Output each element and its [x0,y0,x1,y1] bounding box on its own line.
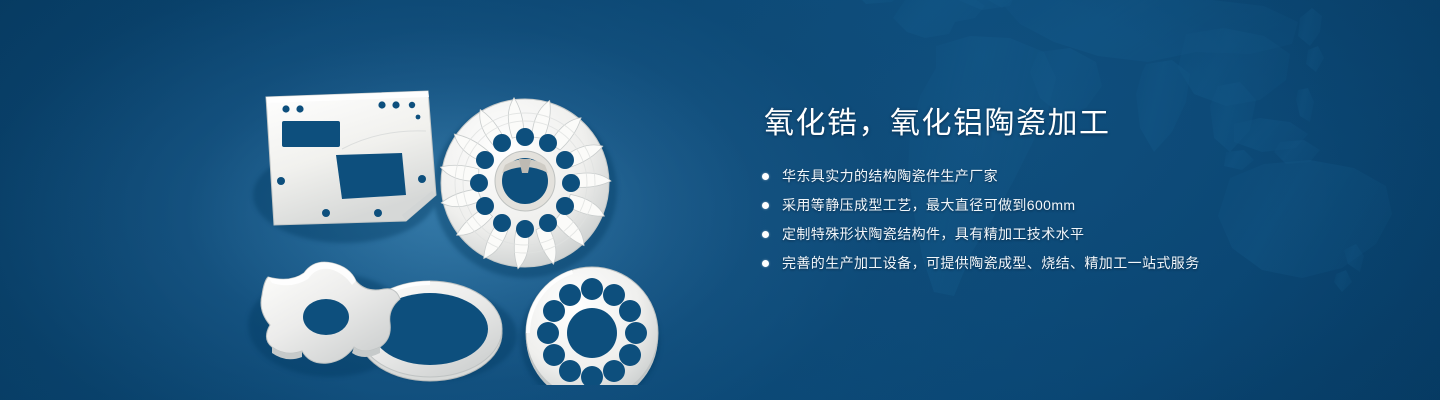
ceramic-parts-image [230,45,700,385]
list-item: 采用等静压成型工艺，最大直径可做到600mm [762,195,1382,215]
banner-feature-list: 华东具实力的结构陶瓷件生产厂家 采用等静压成型工艺，最大直径可做到600mm 定… [762,166,1382,273]
bullet-text: 华东具实力的结构陶瓷件生产厂家 [782,166,998,186]
bullet-text: 定制特殊形状陶瓷结构件，具有精加工技术水平 [782,224,1084,244]
bullet-text: 完善的生产加工设备，可提供陶瓷成型、烧结、精加工一站式服务 [782,253,1200,273]
banner-headline: 氧化锆，氧化铝陶瓷加工 [764,104,1382,144]
list-item: 华东具实力的结构陶瓷件生产厂家 [762,166,1382,186]
ceramic-plate-part [266,91,436,225]
bullet-dot-icon [762,260,769,267]
list-item: 定制特殊形状陶瓷结构件，具有精加工技术水平 [762,224,1382,244]
hero-banner: 氧化锆，氧化铝陶瓷加工 华东具实力的结构陶瓷件生产厂家 采用等静压成型工艺，最大… [0,0,1440,400]
list-item: 完善的生产加工设备，可提供陶瓷成型、烧结、精加工一站式服务 [762,253,1382,273]
banner-text-block: 氧化锆，氧化铝陶瓷加工 华东具实力的结构陶瓷件生产厂家 采用等静压成型工艺，最大… [762,104,1382,273]
bullet-text: 采用等静压成型工艺，最大直径可做到600mm [782,195,1075,215]
ceramic-cross-part [261,262,400,363]
bullet-dot-icon [762,231,769,238]
ceramic-perforated-disc-part [526,267,658,385]
bullet-dot-icon [762,173,769,180]
bullet-dot-icon [762,202,769,209]
